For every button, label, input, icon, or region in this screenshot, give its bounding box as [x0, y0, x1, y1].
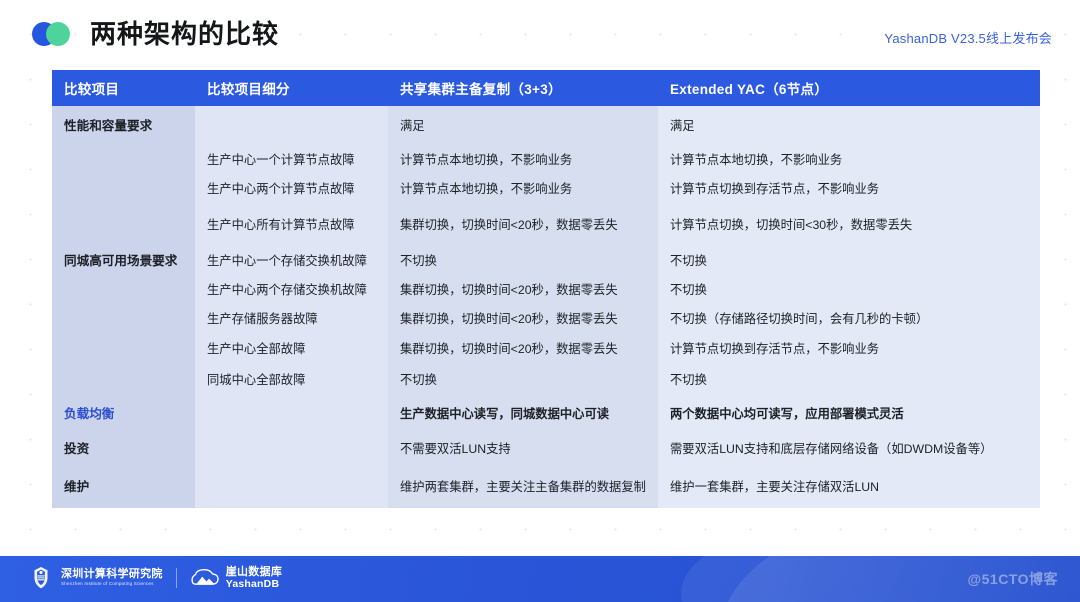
table-row: 生产中心所有计算节点故障集群切换，切换时间<20秒，数据零丢失计算节点切换，切换…	[52, 204, 1040, 246]
institute-name-cn: 深圳计算科学研究院	[61, 568, 163, 580]
institute-name-en: Shenzhen Institute of Computing Sciences	[61, 580, 163, 588]
yashandb-name-en: YashanDB	[226, 578, 283, 590]
cell-detail: 生产中心一个计算节点故障	[195, 146, 388, 174]
cell-category: 维护	[52, 466, 195, 508]
cell-extended-yac: 满足	[658, 106, 1040, 146]
cell-extended-yac: 不切换	[658, 364, 1040, 396]
footer-logo-group: 深圳计算科学研究院 Shenzhen Institute of Computin…	[28, 565, 282, 591]
table-row: 生产中心一个计算节点故障计算节点本地切换，不影响业务计算节点本地切换，不影响业务	[52, 146, 1040, 174]
cell-extended-yac: 计算节点切换到存活节点，不影响业务	[658, 334, 1040, 364]
table-row: 同城高可用场景要求生产中心一个存储交换机故障不切换不切换	[52, 246, 1040, 276]
cell-shared-cluster: 不需要双活LUN支持	[388, 432, 658, 466]
cell-category	[52, 174, 195, 204]
cell-detail	[195, 106, 388, 146]
comparison-table: 比较项目 比较项目细分 共享集群主备复制（3+3） Extended YAC（6…	[52, 70, 1040, 508]
table-row: 负载均衡生产数据中心读写，同城数据中心可读两个数据中心均可读写，应用部署模式灵活	[52, 396, 1040, 432]
cell-detail: 生产中心所有计算节点故障	[195, 204, 388, 246]
cell-extended-yac: 计算节点本地切换，不影响业务	[658, 146, 1040, 174]
cell-extended-yac: 两个数据中心均可读写，应用部署模式灵活	[658, 396, 1040, 432]
cell-category	[52, 276, 195, 304]
table-body: 性能和容量要求满足满足生产中心一个计算节点故障计算节点本地切换，不影响业务计算节…	[52, 106, 1040, 508]
cell-detail	[195, 432, 388, 466]
table-row: 生产中心两个计算节点故障计算节点本地切换，不影响业务计算节点切换到存活节点，不影…	[52, 174, 1040, 204]
cell-category	[52, 146, 195, 174]
cell-shared-cluster: 不切换	[388, 246, 658, 276]
cell-detail: 生产中心一个存储交换机故障	[195, 246, 388, 276]
cell-extended-yac: 需要双活LUN支持和底层存储网络设备（如DWDM设备等）	[658, 432, 1040, 466]
cell-shared-cluster: 计算节点本地切换，不影响业务	[388, 146, 658, 174]
cell-extended-yac: 不切换	[658, 276, 1040, 304]
yashandb-name-block: 崖山数据库 YashanDB	[226, 566, 283, 590]
cell-shared-cluster: 集群切换，切换时间<20秒，数据零丢失	[388, 334, 658, 364]
watermark-label: @51CTO博客	[967, 569, 1058, 589]
cell-category: 投资	[52, 432, 195, 466]
cell-shared-cluster: 集群切换，切换时间<20秒，数据零丢失	[388, 204, 658, 246]
column-header-extended-yac: Extended YAC（6节点）	[658, 70, 1040, 106]
cell-shared-cluster: 集群切换，切换时间<20秒，数据零丢失	[388, 304, 658, 334]
table-row: 性能和容量要求满足满足	[52, 106, 1040, 146]
column-header-shared-cluster: 共享集群主备复制（3+3）	[388, 70, 658, 106]
table-row: 生产存储服务器故障集群切换，切换时间<20秒，数据零丢失不切换（存储路径切换时间…	[52, 304, 1040, 334]
institute-name-block: 深圳计算科学研究院 Shenzhen Institute of Computin…	[61, 568, 163, 588]
cell-shared-cluster: 计算节点本地切换，不影响业务	[388, 174, 658, 204]
yashandb-name-cn: 崖山数据库	[226, 566, 283, 578]
column-header-category: 比较项目	[52, 70, 195, 106]
title-group: 两种架构的比较	[32, 20, 279, 48]
cell-category: 负载均衡	[52, 396, 195, 432]
slide-header: 两种架构的比较 YashanDB V23.5线上发布会	[0, 0, 1080, 62]
cell-detail: 同城中心全部故障	[195, 364, 388, 396]
cell-extended-yac: 不切换（存储路径切换时间，会有几秒的卡顿）	[658, 304, 1040, 334]
yashandb-cloud-mountain-icon	[190, 567, 220, 589]
cell-extended-yac: 维护一套集群，主要关注存储双活LUN	[658, 466, 1040, 508]
cell-shared-cluster: 生产数据中心读写，同城数据中心可读	[388, 396, 658, 432]
cell-detail	[195, 466, 388, 508]
cell-extended-yac: 计算节点切换，切换时间<30秒，数据零丢失	[658, 204, 1040, 246]
cell-extended-yac: 不切换	[658, 246, 1040, 276]
cell-category	[52, 304, 195, 334]
cell-detail: 生产中心两个计算节点故障	[195, 174, 388, 204]
cell-detail: 生产中心两个存储交换机故障	[195, 276, 388, 304]
institute-crest-icon	[28, 565, 54, 591]
table-header-row: 比较项目 比较项目细分 共享集群主备复制（3+3） Extended YAC（6…	[52, 70, 1040, 106]
two-circles-icon	[32, 22, 80, 46]
cell-category	[52, 334, 195, 364]
cell-shared-cluster: 维护两套集群，主要关注主备集群的数据复制	[388, 466, 658, 508]
cell-extended-yac: 计算节点切换到存活节点，不影响业务	[658, 174, 1040, 204]
table-row: 维护维护两套集群，主要关注主备集群的数据复制维护一套集群，主要关注存储双活LUN	[52, 466, 1040, 508]
cell-category: 性能和容量要求	[52, 106, 195, 146]
cell-shared-cluster: 集群切换，切换时间<20秒，数据零丢失	[388, 276, 658, 304]
event-label: YashanDB V23.5线上发布会	[884, 28, 1052, 47]
cell-detail: 生产中心全部故障	[195, 334, 388, 364]
cell-category	[52, 364, 195, 396]
cell-shared-cluster: 满足	[388, 106, 658, 146]
column-header-detail: 比较项目细分	[195, 70, 388, 106]
cell-detail: 生产存储服务器故障	[195, 304, 388, 334]
table-row: 同城中心全部故障不切换不切换	[52, 364, 1040, 396]
table-row: 生产中心两个存储交换机故障集群切换，切换时间<20秒，数据零丢失不切换	[52, 276, 1040, 304]
table-row: 生产中心全部故障集群切换，切换时间<20秒，数据零丢失计算节点切换到存活节点，不…	[52, 334, 1040, 364]
cell-category	[52, 204, 195, 246]
logo-divider	[176, 568, 177, 588]
cell-category: 同城高可用场景要求	[52, 246, 195, 276]
table-row: 投资不需要双活LUN支持需要双活LUN支持和底层存储网络设备（如DWDM设备等）	[52, 432, 1040, 466]
slide-footer: 深圳计算科学研究院 Shenzhen Institute of Computin…	[0, 556, 1080, 602]
cell-detail	[195, 396, 388, 432]
page-title: 两种架构的比较	[90, 20, 279, 48]
cell-shared-cluster: 不切换	[388, 364, 658, 396]
